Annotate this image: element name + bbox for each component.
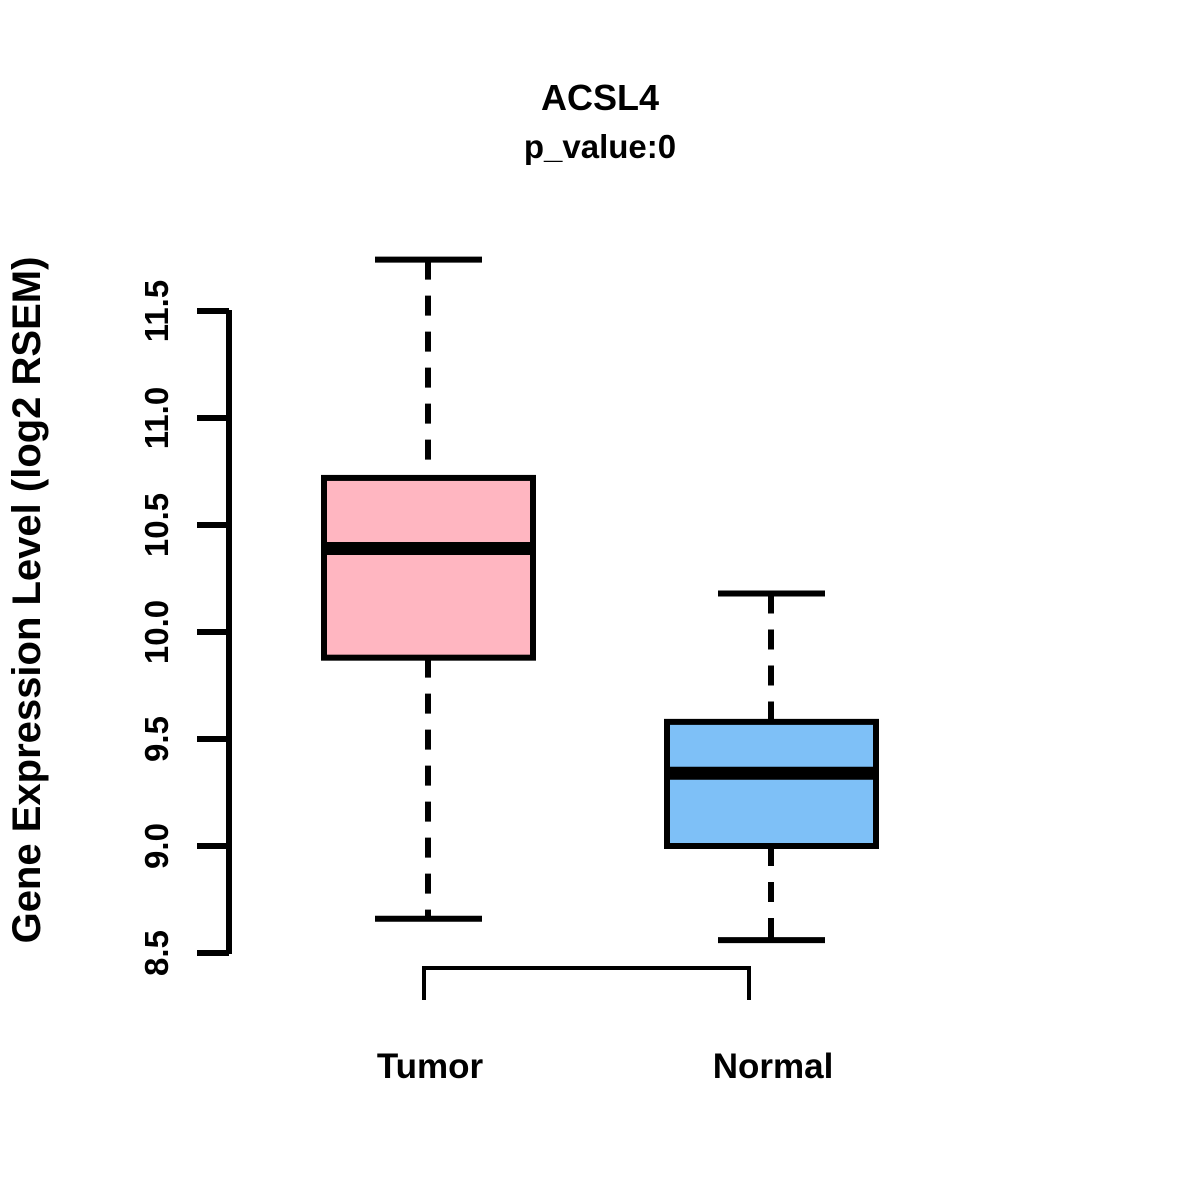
plot-canvas: ACSL4 p_value:0 Gene Expression Level (l… xyxy=(0,0,1200,1200)
y-axis-label-10.0: 10.0 xyxy=(138,600,175,664)
x-axis-label-tumor: Tumor xyxy=(377,1047,484,1086)
y-axis-label-9.5: 9.5 xyxy=(138,716,175,762)
y-axis-label-8.5: 8.5 xyxy=(138,930,175,976)
chart-title: ACSL4 xyxy=(541,77,659,118)
y-axis-label-11.0: 11.0 xyxy=(138,387,175,449)
box-normal[interactable] xyxy=(667,722,876,846)
x-axis-label-normal: Normal xyxy=(713,1047,834,1086)
boxplot-figure: ACSL4 p_value:0 Gene Expression Level (l… xyxy=(0,0,1200,1200)
chart-subtitle: p_value:0 xyxy=(524,128,676,165)
y-axis-title: Gene Expression Level (log2 RSEM) xyxy=(5,257,49,944)
y-axis-label-10.5: 10.5 xyxy=(138,493,175,557)
y-axis-label-11.5: 11.5 xyxy=(138,280,175,342)
plot-background xyxy=(0,0,1200,1200)
box-tumor[interactable] xyxy=(324,478,533,658)
y-axis-label-9.0: 9.0 xyxy=(138,823,175,869)
